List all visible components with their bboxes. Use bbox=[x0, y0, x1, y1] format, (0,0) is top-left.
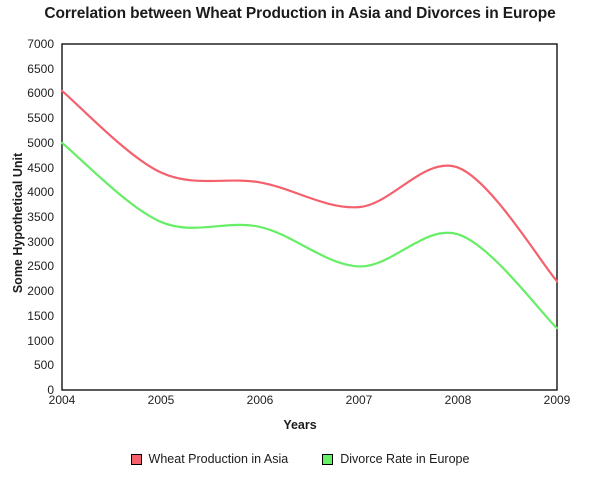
legend-swatch-icon bbox=[322, 454, 333, 465]
plot-area bbox=[0, 0, 600, 500]
plot-frame bbox=[62, 44, 557, 390]
chart-legend: Wheat Production in AsiaDivorce Rate in … bbox=[0, 452, 600, 466]
chart-container: Correlation between Wheat Production in … bbox=[0, 0, 600, 500]
legend-item-1[interactable]: Wheat Production in Asia bbox=[131, 452, 289, 466]
legend-label: Divorce Rate in Europe bbox=[340, 452, 469, 466]
legend-item-2[interactable]: Divorce Rate in Europe bbox=[322, 452, 469, 466]
legend-swatch-icon bbox=[131, 454, 142, 465]
legend-label: Wheat Production in Asia bbox=[149, 452, 289, 466]
